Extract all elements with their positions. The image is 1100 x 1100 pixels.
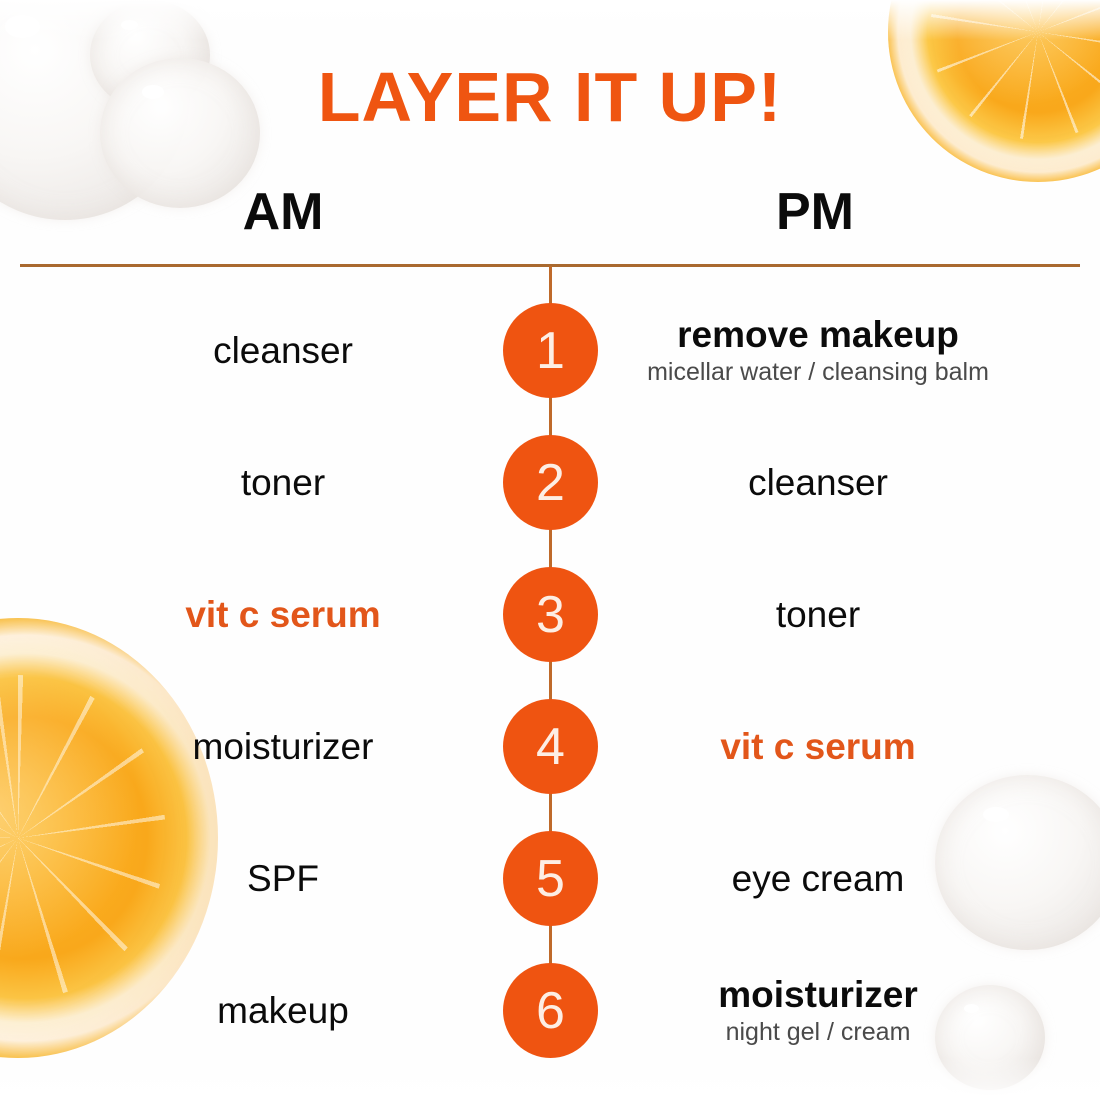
step-pm-label: moisturizer: [718, 975, 917, 1014]
step-pm-cell: moisturizernight gel / cream: [608, 960, 1028, 1061]
step-pm-cell: vit c serum: [608, 696, 1028, 797]
content-layer: LAYER IT UP! AM PM cleanser1remove makeu…: [0, 0, 1100, 1100]
step-am-label: vit c serum: [185, 595, 380, 634]
step-number-badge: 5: [503, 831, 598, 926]
step-number-badge: 3: [503, 567, 598, 662]
step-pm-sublabel: night gel / cream: [726, 1018, 911, 1047]
step-am-label: toner: [241, 463, 325, 502]
step-row: SPF5eye cream: [0, 828, 1100, 960]
step-pm-label: vit c serum: [720, 727, 915, 766]
step-pm-sublabel: micellar water / cleansing balm: [647, 358, 989, 387]
step-pm-label: remove makeup: [677, 315, 959, 354]
step-am-label: makeup: [217, 991, 349, 1030]
step-am-cell: vit c serum: [73, 564, 493, 665]
step-am-label: cleanser: [213, 331, 353, 370]
step-number-badge: 2: [503, 435, 598, 530]
step-pm-label: eye cream: [732, 859, 905, 898]
step-row: vit c serum3toner: [0, 564, 1100, 696]
steps-list: cleanser1remove makeupmicellar water / c…: [0, 0, 1100, 1100]
step-row: cleanser1remove makeupmicellar water / c…: [0, 300, 1100, 432]
step-number-badge: 4: [503, 699, 598, 794]
step-am-label: SPF: [247, 859, 319, 898]
step-row: makeup6moisturizernight gel / cream: [0, 960, 1100, 1092]
step-am-label: moisturizer: [193, 727, 374, 766]
step-am-cell: SPF: [73, 828, 493, 929]
step-am-cell: toner: [73, 432, 493, 533]
step-pm-cell: toner: [608, 564, 1028, 665]
step-pm-label: cleanser: [748, 463, 888, 502]
step-pm-cell: remove makeupmicellar water / cleansing …: [608, 300, 1028, 401]
step-pm-cell: cleanser: [608, 432, 1028, 533]
step-row: toner2cleanser: [0, 432, 1100, 564]
step-pm-cell: eye cream: [608, 828, 1028, 929]
infographic-canvas: LAYER IT UP! AM PM cleanser1remove makeu…: [0, 0, 1100, 1100]
step-am-cell: makeup: [73, 960, 493, 1061]
step-row: moisturizer4vit c serum: [0, 696, 1100, 828]
step-pm-label: toner: [776, 595, 860, 634]
step-number-badge: 1: [503, 303, 598, 398]
step-number-badge: 6: [503, 963, 598, 1058]
step-am-cell: moisturizer: [73, 696, 493, 797]
step-am-cell: cleanser: [73, 300, 493, 401]
